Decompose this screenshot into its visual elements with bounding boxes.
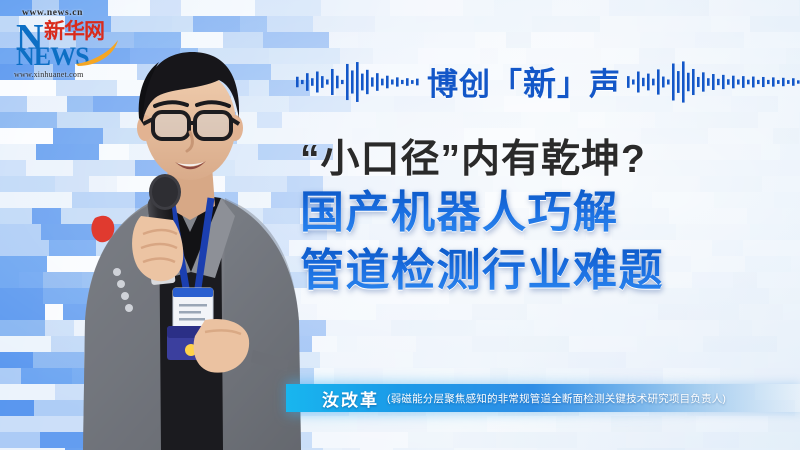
program-title-prefix: 博创 bbox=[427, 67, 491, 102]
program-title-row: 博创「新」声 bbox=[296, 60, 796, 108]
headline-block: “小口径”内有乾坤? 国产机器人巧解 管道检测行业难题 bbox=[300, 135, 770, 299]
headline-line-1: “小口径”内有乾坤? bbox=[300, 135, 770, 185]
waveform-right-icon bbox=[627, 61, 800, 108]
caption-bar: 汝改革 (弱磁能分层聚焦感知的非常规管道全断面检测关键技术研究项目负责人) bbox=[286, 384, 800, 412]
logo-url-bottom: www.xinhuanet.com bbox=[14, 70, 84, 79]
program-title-suffix: 声 bbox=[589, 67, 621, 102]
program-title-highlight: 新 bbox=[523, 65, 557, 102]
video-thumbnail: www.news.cn N 新华网 NEWS www.xinhuanet.com… bbox=[0, 0, 800, 450]
speaker-name: 汝改革 bbox=[322, 386, 379, 411]
program-title-bracket-open: 「 bbox=[491, 67, 523, 102]
headline-line-2: 国产机器人巧解 bbox=[300, 185, 770, 241]
speaker-role: (弱磁能分层聚焦感知的非常规管道全断面检测关键技术研究项目负责人) bbox=[387, 391, 726, 406]
headline-line-3: 管道检测行业难题 bbox=[300, 243, 770, 299]
logo-swoosh-icon bbox=[74, 40, 120, 66]
program-title-bracket-close: 」 bbox=[557, 67, 589, 102]
program-title: 博创「新」声 bbox=[427, 68, 621, 100]
xinhua-news-logo[interactable]: www.news.cn N 新华网 NEWS www.xinhuanet.com bbox=[8, 6, 120, 82]
logo-chinese-name: 新华网 bbox=[44, 21, 104, 42]
waveform-left-icon bbox=[296, 61, 421, 108]
speaker-photo bbox=[55, 20, 325, 450]
